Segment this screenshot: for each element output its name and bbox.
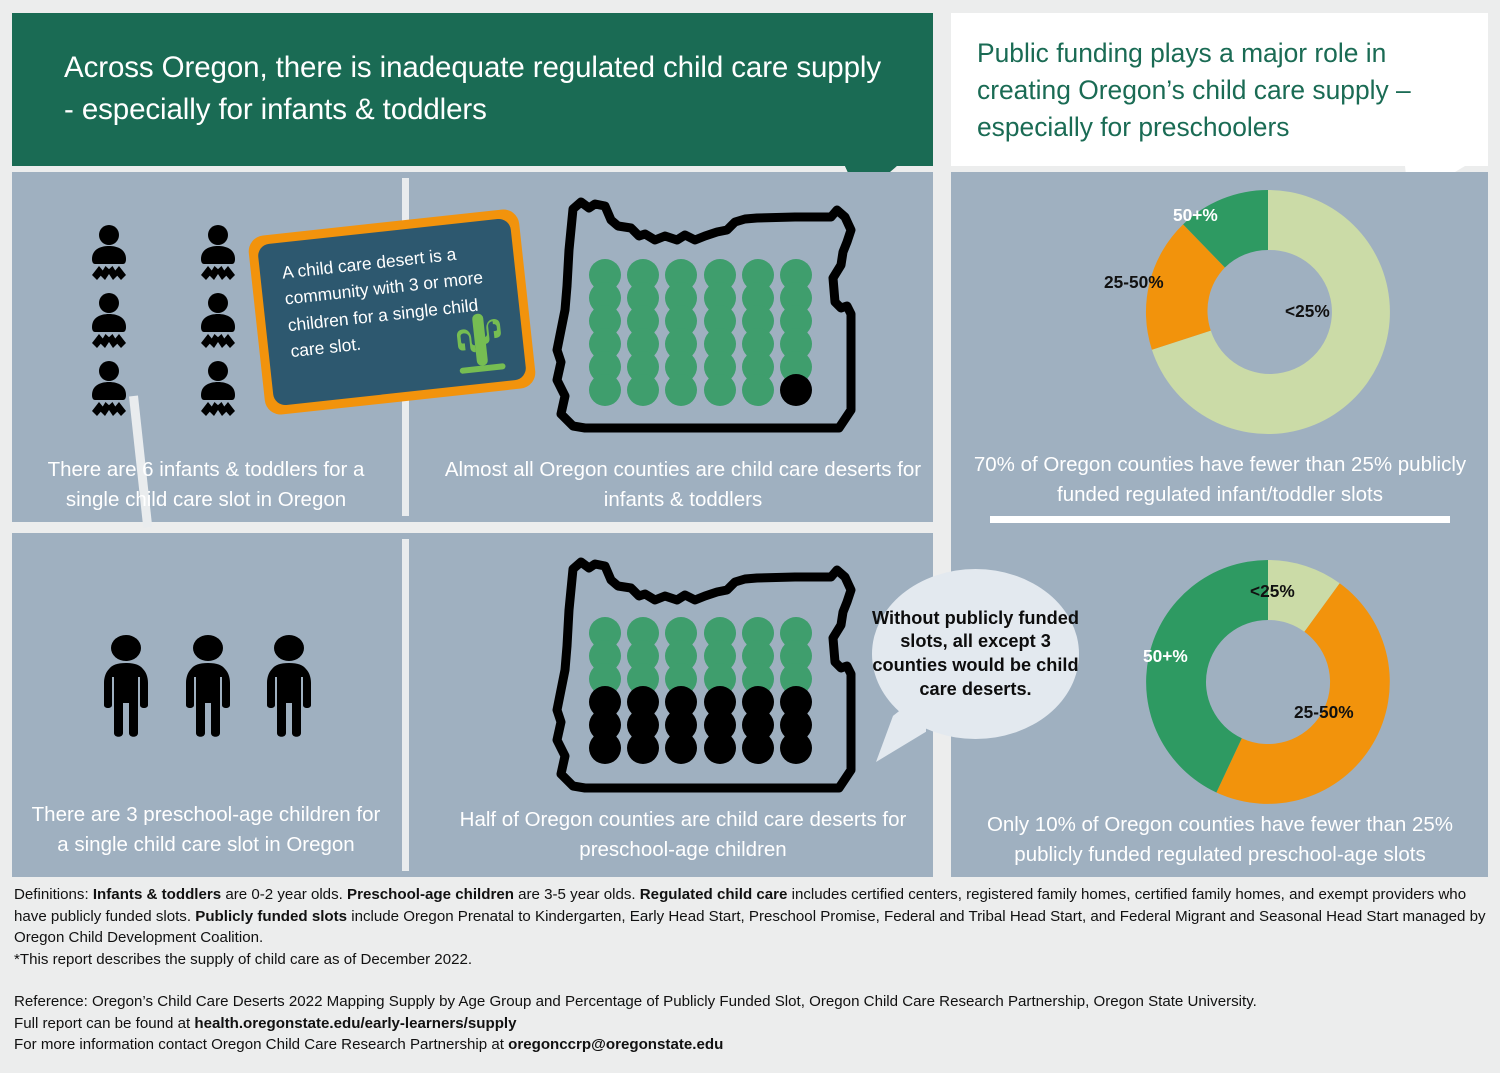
def-bold-infants: Infants & toddlers: [93, 886, 221, 903]
header-right-title: Public funding plays a major role in cre…: [977, 38, 1411, 142]
donut1-label-lt25: <25%: [1285, 301, 1330, 322]
donut-chart-infant-toddler: [1092, 186, 1444, 438]
header-left: Across Oregon, there is inadequate regul…: [12, 13, 933, 166]
footer-report-line: Full report can be found at health.orego…: [14, 1013, 1490, 1035]
adult-icon: [95, 633, 157, 738]
divider-bottom-vertical: [402, 539, 409, 871]
donut1-label-25-50: 25-50%: [1104, 272, 1164, 293]
report-prefix: Full report can be found at: [14, 1015, 194, 1032]
def-bold-regulated: Regulated child care: [640, 886, 788, 903]
oregon-map-preschool: [545, 550, 875, 800]
sign-frame: A child care desert is a community with …: [247, 208, 537, 416]
contact-prefix: For more information contact Oregon Chil…: [14, 1036, 508, 1053]
caption-donut-infant: 70% of Oregon counties have fewer than 2…: [966, 450, 1474, 510]
header-right: Public funding plays a major role in cre…: [951, 13, 1488, 166]
contact-email[interactable]: oregonccrp@oregonstate.edu: [508, 1036, 723, 1053]
footer: Definitions: Infants & toddlers are 0-2 …: [14, 884, 1490, 1056]
footer-reference: Reference: Oregon’s Child Care Deserts 2…: [14, 991, 1490, 1013]
header-left-title: Across Oregon, there is inadequate regul…: [64, 51, 881, 126]
donut1-label-50plus: 50+%: [1173, 205, 1218, 226]
baby-icon: [190, 361, 246, 419]
caption-preschool-map: Half of Oregon counties are child care d…: [443, 805, 923, 865]
donut2-label-lt25: <25%: [1250, 581, 1295, 602]
adult-icon: [177, 633, 239, 738]
child-care-desert-sign: A child care desert is a community with …: [247, 208, 537, 416]
speech-bubble-text: Without publicly funded slots, all excep…: [872, 607, 1079, 702]
adult-icon-group: [95, 628, 320, 738]
footer-spacer: [14, 971, 1490, 991]
map-dot-grid-preschool: [589, 617, 812, 764]
cactus-icon: [447, 307, 512, 379]
caption-preschool-ratio: There are 3 preschool-age children for a…: [26, 800, 386, 860]
def-bold-preschool: Preschool-age children: [347, 886, 514, 903]
def-text-1: are 0-2 year olds.: [221, 886, 347, 903]
baby-icon: [81, 225, 137, 283]
baby-icon: [190, 293, 246, 351]
footer-definitions: Definitions: Infants & toddlers are 0-2 …: [14, 884, 1490, 949]
donut2-label-50plus: 50+%: [1143, 646, 1188, 667]
adult-icon: [258, 633, 320, 738]
def-text-2: are 3-5 year olds.: [514, 886, 640, 903]
sign-face: A child care desert is a community with …: [257, 218, 527, 406]
def-label: Definitions:: [14, 886, 93, 903]
divider-right-horizontal: [990, 516, 1450, 523]
baby-icon: [190, 225, 246, 283]
caption-infant-map: Almost all Oregon counties are child car…: [443, 455, 923, 515]
footer-contact-line: For more information contact Oregon Chil…: [14, 1034, 1490, 1056]
donut2-label-25-50: 25-50%: [1294, 702, 1354, 723]
caption-infant-ratio: There are 6 infants & toddlers for a sin…: [26, 455, 386, 515]
map-dot-grid-infant: [589, 259, 812, 406]
baby-icon: [81, 361, 137, 419]
footer-note: *This report describes the supply of chi…: [14, 949, 1490, 971]
oregon-map-infant-toddler: [545, 190, 875, 440]
baby-icon: [81, 293, 137, 351]
report-link[interactable]: health.oregonstate.edu/early-learners/su…: [194, 1015, 516, 1032]
def-bold-publicly: Publicly funded slots: [195, 908, 347, 925]
speech-bubble-without-funding: Without publicly funded slots, all excep…: [872, 569, 1079, 739]
baby-icon-group: [68, 222, 258, 422]
caption-donut-preschool: Only 10% of Oregon counties have fewer t…: [966, 810, 1474, 870]
infographic-root: Across Oregon, there is inadequate regul…: [0, 0, 1500, 1073]
